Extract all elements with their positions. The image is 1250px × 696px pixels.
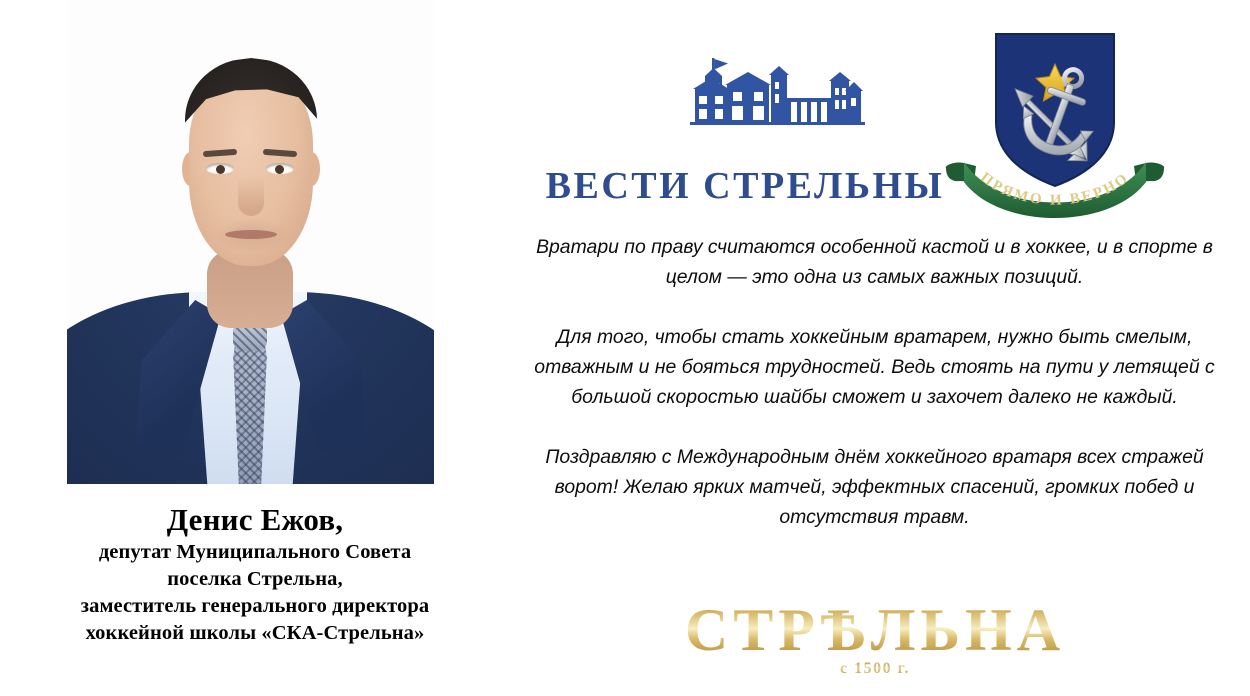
message-paragraph-3: Поздравляю с Международным днём хоккейно… <box>522 442 1227 532</box>
vesti-strelny-logo: ВЕСТИ СТРЕЛЬНЫ <box>540 36 950 206</box>
pupil-left <box>216 165 225 174</box>
person-name: Денис Ежов, <box>20 501 490 539</box>
role-line-2: поселка Стрельна, <box>20 566 490 593</box>
necktie-knot <box>233 325 267 351</box>
mouth-shape <box>225 230 277 239</box>
message-paragraph-2: Для того, чтобы стать хоккейным вратарем… <box>522 322 1227 412</box>
role-line-3: заместитель генерального директора <box>20 593 490 620</box>
poster-page: Денис Ежов, депутат Муниципального Совет… <box>0 0 1250 696</box>
strelna-wordmark: СТРѢЛЬНА <box>655 598 1095 662</box>
right-column: ВЕСТИ СТРЕЛЬНЫ <box>500 0 1250 696</box>
nose-shape <box>238 176 264 216</box>
pupil-right <box>275 165 284 174</box>
vesti-strelny-title: ВЕСТИ СТРЕЛЬНЫ <box>540 164 950 208</box>
strelna-coat-of-arms: ПРЯМО И ВЕРНО <box>940 18 1170 218</box>
left-column: Денис Ежов, депутат Муниципального Совет… <box>0 0 500 696</box>
message-paragraph-1: Вратари по праву считаются особенной кас… <box>522 232 1227 292</box>
portrait-photo <box>67 0 434 484</box>
strelna-gold-logo: СТРѢЛЬНА с 1500 г. <box>655 598 1095 678</box>
role-line-1: депутат Муниципального Совета <box>20 539 490 566</box>
role-line-4: хоккейной школы «СКА-Стрельна» <box>20 620 490 647</box>
palace-icon <box>635 36 865 162</box>
message-block: Вратари по праву считаются особенной кас… <box>522 232 1227 532</box>
logos-row: ВЕСТИ СТРЕЛЬНЫ <box>500 18 1250 208</box>
caption-block: Денис Ежов, депутат Муниципального Совет… <box>20 501 490 647</box>
